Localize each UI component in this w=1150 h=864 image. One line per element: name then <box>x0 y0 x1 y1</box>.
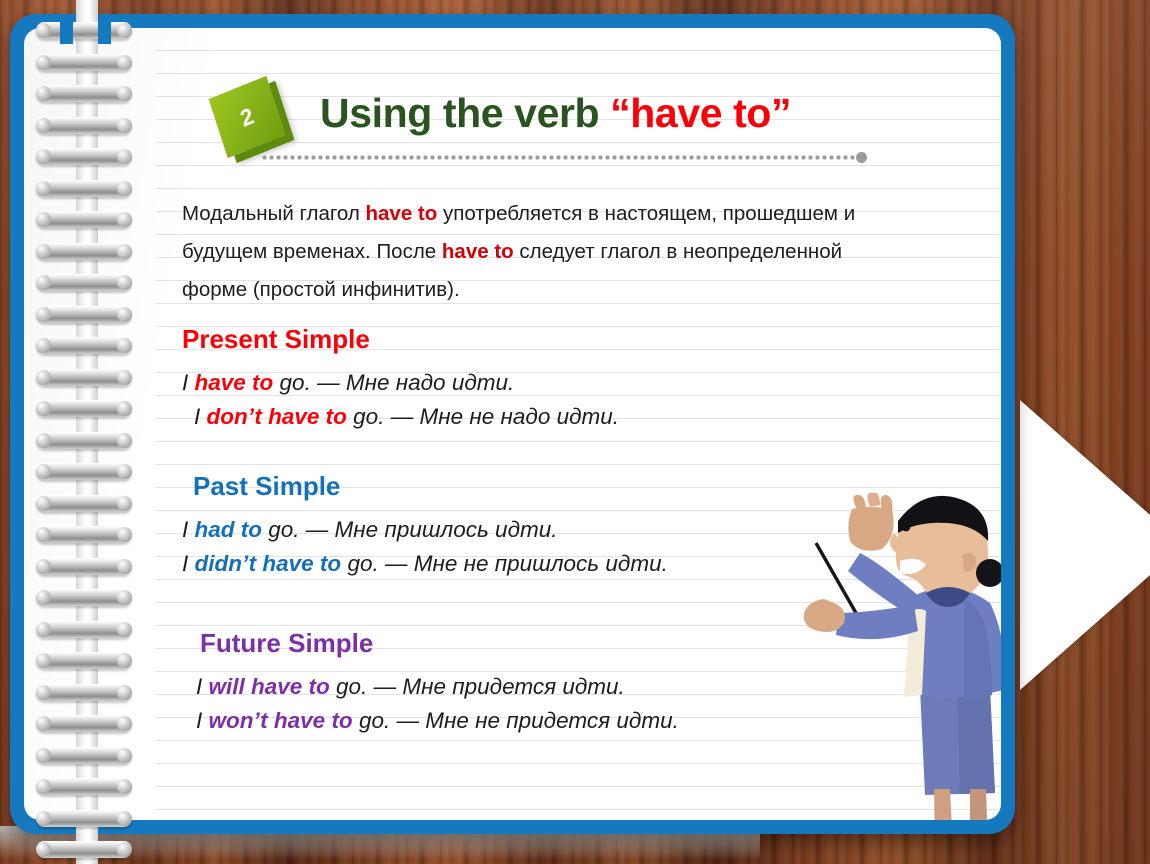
dotted-divider-icon <box>261 155 857 160</box>
example-pre: I <box>194 404 207 429</box>
spiral-ring <box>36 621 132 638</box>
finger-2 <box>867 493 880 507</box>
spiral-ring <box>36 778 132 795</box>
intro-paragraph: Модальный глагол have to употребляется в… <box>182 195 902 309</box>
spiral-ring <box>36 589 132 606</box>
leg-right <box>970 789 988 820</box>
spiral-ring <box>36 369 132 386</box>
example-bold: don’t have to <box>207 404 347 429</box>
spiral-ring <box>36 54 132 71</box>
right-triangle-arrow-icon <box>1020 400 1150 690</box>
example-bold: will have to <box>209 674 330 699</box>
spiral-ring <box>36 22 132 39</box>
example-row: I don’t have to go. — Мне не надо идти. <box>182 400 942 434</box>
intro-bold-1: have to <box>366 202 438 225</box>
example-bold: didn’t have to <box>195 551 342 576</box>
hand-lower <box>804 599 845 632</box>
example-post: go. — Мне придется идти. <box>330 674 625 699</box>
badge-number: 2 <box>209 76 286 158</box>
page-title: Using the verb “have to” <box>320 90 791 137</box>
example-post: go. — Мне надо идти. <box>273 370 514 395</box>
spiral-ring <box>36 148 132 165</box>
green-cube-badge: 2 <box>210 80 288 158</box>
spiral-ring <box>36 306 132 323</box>
spiral-ring <box>36 432 132 449</box>
intro-part-1: Модальный глагол <box>182 202 366 225</box>
spiral-ring <box>36 747 132 764</box>
example-post: go. — Мне не надо идти. <box>347 404 619 429</box>
intro-bold-2: have to <box>442 240 514 263</box>
spiral-ring <box>36 400 132 417</box>
spiral-ring <box>36 558 132 575</box>
spiral-ring <box>36 463 132 480</box>
title-highlight-text: “have to” <box>610 90 791 136</box>
example-post: go. — Мне не пришлось идти. <box>341 551 668 576</box>
hand-raised <box>848 507 893 551</box>
example-row: I have to go. — Мне надо идти. <box>182 366 942 400</box>
leg-left <box>934 789 953 820</box>
dotted-divider-end-dot-icon <box>856 152 867 163</box>
skirt-shade <box>957 688 995 794</box>
spacer <box>182 354 942 366</box>
ear <box>962 553 976 571</box>
example-post: go. — Мне пришлось идти. <box>262 517 558 542</box>
spiral-ring <box>36 810 132 827</box>
notebook-page: 2 Using the verb “have to” Модальный гла… <box>24 28 1001 820</box>
example-pre: I <box>182 517 195 542</box>
spiral-ring <box>36 495 132 512</box>
spiral-ring <box>36 180 132 197</box>
spiral-ring <box>36 211 132 228</box>
spiral-ring <box>36 715 132 732</box>
example-pre: I <box>182 551 195 576</box>
frame-tab <box>60 14 73 44</box>
example-bold: had to <box>195 517 263 542</box>
tense-heading-present-simple: Present Simple <box>182 324 942 354</box>
example-bold: won’t have to <box>209 708 353 733</box>
spiral-ring <box>36 526 132 543</box>
spiral-ring <box>36 684 132 701</box>
spiral-ring <box>36 337 132 354</box>
example-post: go. — Мне не придется идти. <box>353 708 679 733</box>
teacher-with-pointer-illustration <box>794 493 1001 820</box>
spiral-ring <box>36 841 132 858</box>
example-pre: I <box>196 674 209 699</box>
tense-block-present-simple: Present Simple I have to go. — Мне надо … <box>182 324 942 434</box>
spiral-ring <box>36 243 132 260</box>
example-pre: I <box>182 370 195 395</box>
frame-tab <box>98 14 111 44</box>
notebook-frame: 2 Using the verb “have to” Модальный гла… <box>10 14 1015 834</box>
spiral-ring <box>36 652 132 669</box>
spiral-ring <box>36 85 132 102</box>
example-pre: I <box>196 708 209 733</box>
spiral-ring <box>36 117 132 134</box>
cube-shape: 2 <box>209 76 286 158</box>
spiral-ring <box>36 274 132 291</box>
spiral-binding-icon <box>36 0 132 864</box>
title-main-text: Using the verb <box>320 90 610 136</box>
example-bold: have to <box>195 370 274 395</box>
